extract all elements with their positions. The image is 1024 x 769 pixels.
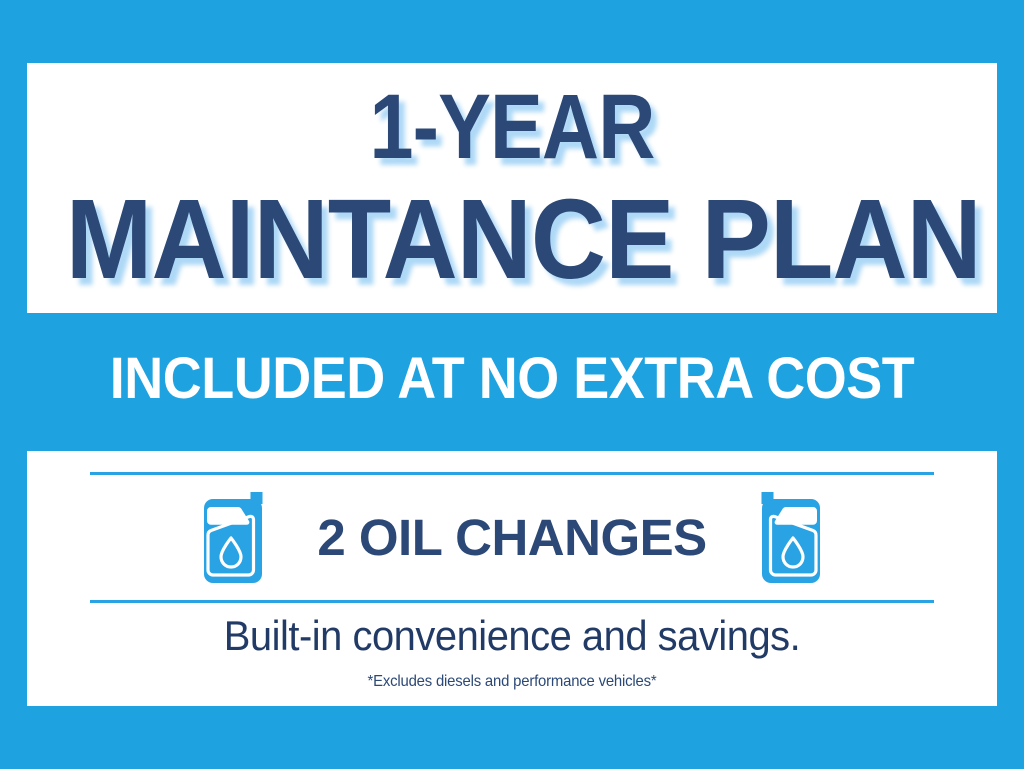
subtitle: INCLUDED AT NO EXTRA COST bbox=[36, 350, 988, 408]
fineprint-disclaimer: *Excludes diesels and performance vehicl… bbox=[61, 674, 963, 690]
oil-jug-icon-right bbox=[751, 490, 824, 585]
headline-panel: 1-YEAR MAINTANCE PLAN bbox=[27, 63, 997, 313]
oil-jug-icon-left bbox=[200, 490, 273, 585]
promo-poster: 1-YEAR MAINTANCE PLAN INCLUDED AT NO EXT… bbox=[0, 0, 1024, 769]
headline-line-1: 1-YEAR bbox=[95, 81, 929, 173]
headline-line-2: MAINTANCE PLAN bbox=[66, 183, 958, 296]
offer-panel: 2 OIL CHANGES Built-in convenience and s… bbox=[27, 451, 997, 706]
tagline: Built-in convenience and savings. bbox=[51, 615, 973, 657]
offer-row: 2 OIL CHANGES bbox=[27, 481, 997, 593]
divider-top bbox=[90, 472, 934, 475]
offer-label: 2 OIL CHANGES bbox=[317, 512, 706, 563]
divider-bottom bbox=[90, 600, 934, 603]
